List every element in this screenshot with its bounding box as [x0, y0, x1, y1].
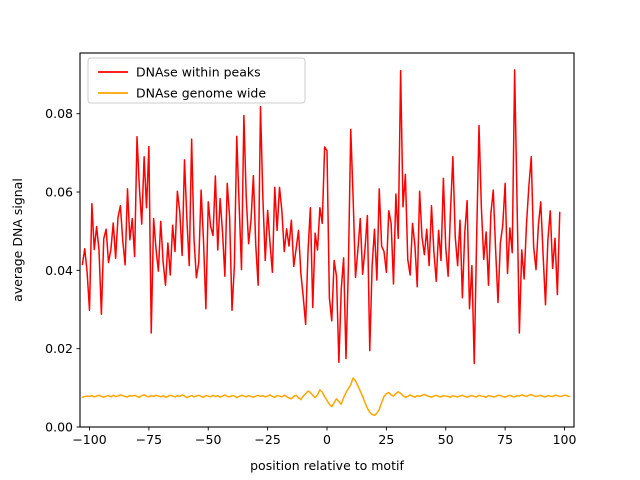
x-tick-label: 50	[438, 432, 454, 447]
x-tick-label: 75	[497, 432, 513, 447]
x-tick-label: 0	[323, 432, 331, 447]
x-tick-label: −75	[136, 432, 162, 447]
x-tick-label: −25	[254, 432, 280, 447]
x-tick-label: 25	[378, 432, 394, 447]
x-tick-label: −50	[195, 432, 221, 447]
y-tick-label: 0.02	[45, 341, 73, 356]
y-tick-label: 0.06	[45, 185, 73, 200]
x-tick-label: −100	[72, 432, 106, 447]
plot-axes: −100−75−50−2502550751000.000.020.040.060…	[10, 53, 576, 473]
x-axis-label: position relative to motif	[250, 458, 404, 473]
x-tick-label: 100	[553, 432, 577, 447]
chart-canvas: −100−75−50−2502550751000.000.020.040.060…	[0, 0, 640, 480]
legend-label-0: DNAse within peaks	[136, 65, 261, 80]
y-axis-label: average DNA signal	[10, 178, 25, 302]
y-tick-label: 0.04	[45, 263, 73, 278]
y-tick-label: 0.08	[45, 106, 73, 121]
matplotlib-figure: −100−75−50−2502550751000.000.020.040.060…	[0, 0, 640, 480]
legend-label-1: DNAse genome wide	[136, 86, 266, 101]
plot-area-background	[80, 53, 574, 427]
y-tick-label: 0.00	[45, 420, 73, 435]
